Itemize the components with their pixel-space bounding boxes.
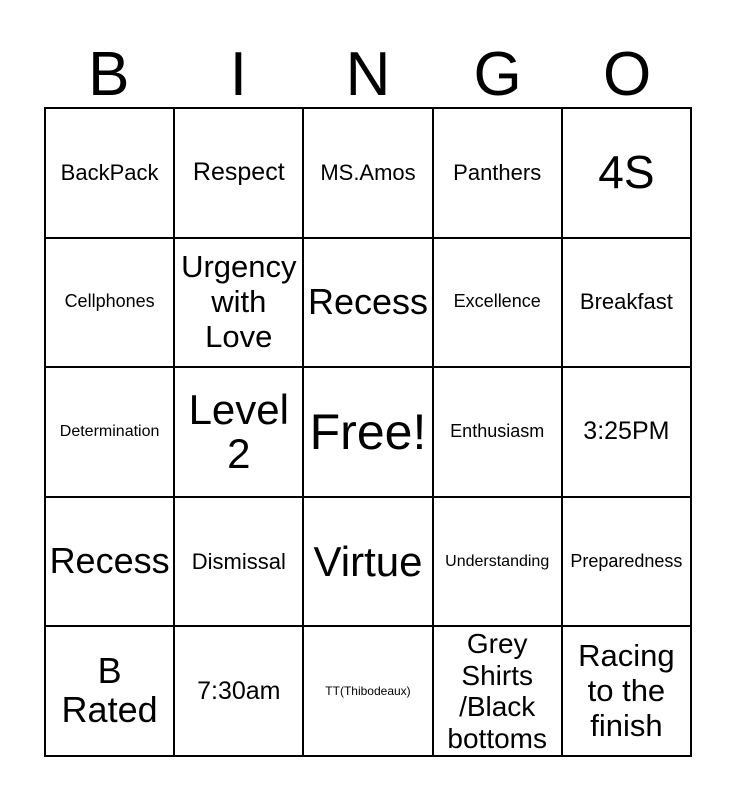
bingo-cell-label: 4S — [566, 149, 687, 196]
bingo-cell[interactable]: MS.Amos — [304, 109, 433, 239]
bingo-cell-label: B Rated — [49, 652, 170, 730]
bingo-cell-label: Urgency with Love — [178, 250, 299, 354]
bingo-cell-label: Preparedness — [566, 552, 687, 572]
bingo-cell-label: TT(Thibodeaux) — [307, 685, 428, 698]
bingo-cell-label: Panthers — [437, 161, 558, 185]
bingo-cell-label: Understanding — [437, 553, 558, 571]
bingo-cell[interactable]: Virtue — [304, 498, 433, 628]
bingo-cell[interactable]: B Rated — [46, 627, 175, 757]
bingo-cell[interactable]: Recess — [304, 239, 433, 369]
bingo-cell-label: Cellphones — [49, 292, 170, 312]
bingo-cell[interactable]: Urgency with Love — [175, 239, 304, 369]
header-letter-b: B — [44, 22, 174, 107]
bingo-cell-label: Racing to the finish — [566, 639, 687, 743]
bingo-cell[interactable]: Free! — [304, 368, 433, 498]
bingo-cell-label: BackPack — [49, 161, 170, 185]
bingo-cell-label: Breakfast — [566, 290, 687, 314]
bingo-cell[interactable]: BackPack — [46, 109, 175, 239]
bingo-cell-label: Free! — [307, 407, 428, 457]
bingo-cell[interactable]: Level 2 — [175, 368, 304, 498]
bingo-cell-label: Excellence — [437, 292, 558, 312]
bingo-cell-label: Dismissal — [178, 550, 299, 574]
bingo-cell-label: Enthusiasm — [437, 422, 558, 442]
bingo-cell-label: Level 2 — [178, 388, 299, 476]
bingo-cell[interactable]: TT(Thibodeaux) — [304, 627, 433, 757]
bingo-cell-label: MS.Amos — [307, 161, 428, 185]
bingo-grid: BackPackRespectMS.AmosPanthers4SCellphon… — [44, 107, 692, 757]
bingo-cell[interactable]: Understanding — [434, 498, 563, 628]
bingo-cell[interactable]: 7:30am — [175, 627, 304, 757]
bingo-cell[interactable]: Enthusiasm — [434, 368, 563, 498]
bingo-cell-label: Grey Shirts /Black bottoms — [437, 628, 558, 753]
header-letter-n: N — [303, 22, 433, 107]
bingo-cell-label: Determination — [49, 423, 170, 441]
bingo-header: B I N G O — [44, 22, 692, 107]
bingo-cell-label: Recess — [307, 283, 428, 322]
bingo-cell[interactable]: 3:25PM — [563, 368, 692, 498]
bingo-cell[interactable]: Preparedness — [563, 498, 692, 628]
bingo-cell[interactable]: Racing to the finish — [563, 627, 692, 757]
bingo-cell[interactable]: Panthers — [434, 109, 563, 239]
header-letter-o: O — [562, 22, 692, 107]
bingo-card: B I N G O BackPackRespectMS.AmosPanthers… — [0, 0, 736, 800]
bingo-cell[interactable]: Grey Shirts /Black bottoms — [434, 627, 563, 757]
bingo-cell-label: Recess — [49, 542, 170, 581]
bingo-cell[interactable]: Dismissal — [175, 498, 304, 628]
bingo-cell[interactable]: Cellphones — [46, 239, 175, 369]
header-letter-i: I — [174, 22, 304, 107]
bingo-cell[interactable]: Excellence — [434, 239, 563, 369]
bingo-cell[interactable]: Breakfast — [563, 239, 692, 369]
bingo-cell-label: Virtue — [307, 540, 428, 584]
bingo-cell[interactable]: Respect — [175, 109, 304, 239]
bingo-cell-label: Respect — [178, 159, 299, 186]
bingo-cell[interactable]: Recess — [46, 498, 175, 628]
bingo-cell-label: 3:25PM — [566, 418, 687, 445]
bingo-cell-label: 7:30am — [178, 678, 299, 705]
header-letter-g: G — [433, 22, 563, 107]
bingo-cell[interactable]: 4S — [563, 109, 692, 239]
bingo-cell[interactable]: Determination — [46, 368, 175, 498]
